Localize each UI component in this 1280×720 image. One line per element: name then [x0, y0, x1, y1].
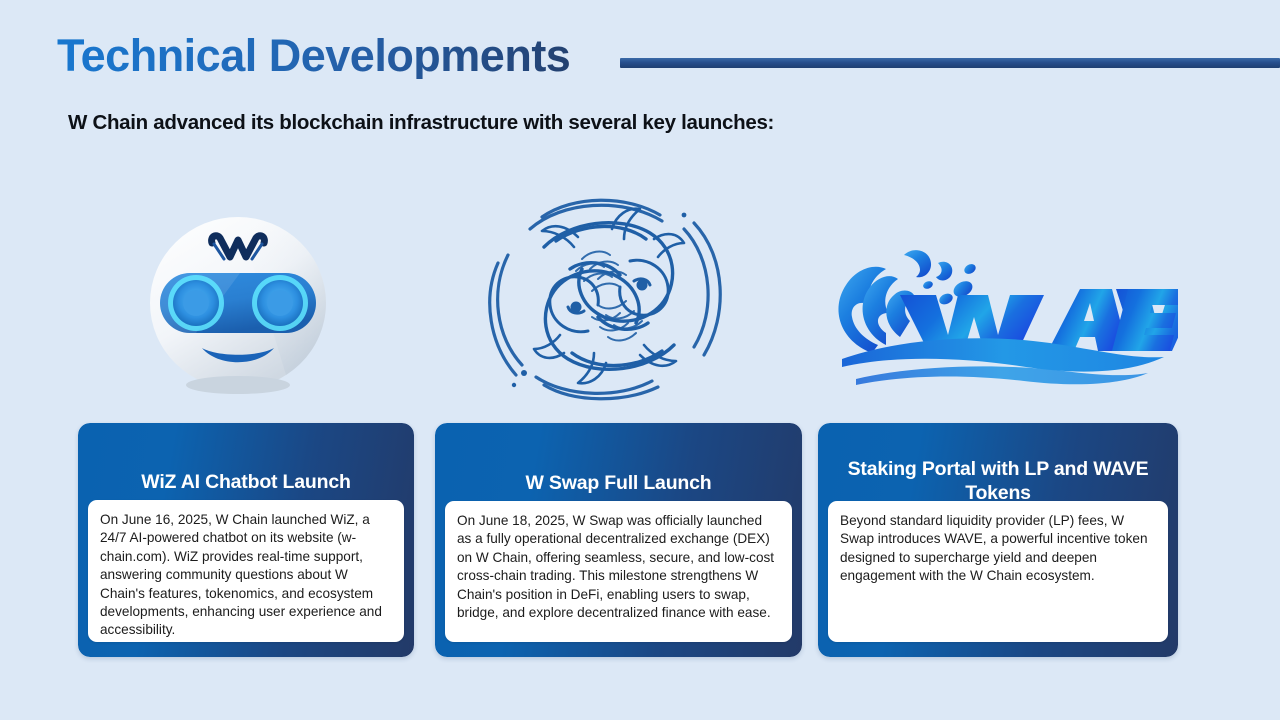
card-title: Staking Portal with LP and WAVE Tokens	[832, 458, 1164, 506]
card-title: W Swap Full Launch	[449, 472, 788, 496]
card-wiz-ai-chatbot-launch[interactable]: WiZ AI Chatbot Launch On June 16, 2025, …	[78, 423, 414, 657]
card-body-text: On June 16, 2025, W Chain launched WiZ, …	[88, 500, 404, 642]
card-body-text: On June 18, 2025, W Swap was officially …	[445, 501, 792, 642]
card-body-text: Beyond standard liquidity provider (LP) …	[828, 501, 1168, 642]
cards-row: WiZ AI Chatbot Launch On June 16, 2025, …	[0, 0, 1280, 720]
card-staking-portal-lp-wave-tokens[interactable]: Staking Portal with LP and WAVE Tokens B…	[818, 423, 1178, 657]
card-title: WiZ AI Chatbot Launch	[92, 471, 400, 495]
card-w-swap-full-launch[interactable]: W Swap Full Launch On June 18, 2025, W S…	[435, 423, 802, 657]
slide-root: Technical Developments W Chain advanced …	[0, 0, 1280, 720]
